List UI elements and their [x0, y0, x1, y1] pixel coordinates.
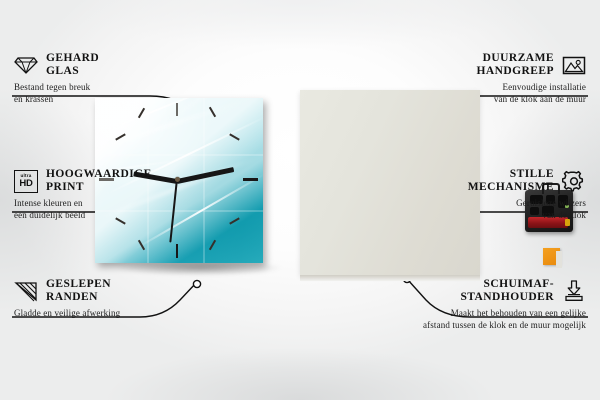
picture-frame-icon — [562, 54, 586, 76]
feature-geslepen-randen: GESLEPEN RANDEN Gladde en veilige afwerk… — [14, 278, 199, 320]
feature-duurzame-handgreep: DUURZAME HANDGREEP Eenvoudige installati… — [401, 52, 586, 105]
feature-subtitle-line1: Bestand tegen breuk — [14, 82, 199, 94]
beveled-edges-icon — [14, 280, 38, 302]
feature-subtitle-line1: Geruisloze wijzers — [401, 198, 586, 210]
feature-title-line1: DUURZAME — [476, 52, 554, 65]
feature-subtitle-line1: Eenvoudige installatie — [401, 82, 586, 94]
ultra-hd-icon-main: HD — [19, 179, 32, 189]
ultra-hd-icon: ultra HD — [14, 170, 38, 192]
feature-title-line1: GEHARD — [46, 52, 99, 65]
gear-icon — [562, 170, 586, 192]
feature-title-line2: HANDGREEP — [476, 65, 554, 78]
feature-subtitle-line2: en krassen — [14, 94, 199, 106]
feature-title-line2: STANDHOUDER — [460, 291, 554, 304]
foam-spacer-pad — [543, 248, 560, 265]
feature-title-line1: GESLEPEN — [46, 278, 111, 291]
feature-subtitle-line1: Maakt het behouden van een gelijke — [371, 308, 586, 320]
down-arrow-stack-icon — [562, 280, 586, 302]
feature-title-line2: GLAS — [46, 65, 99, 78]
feature-title-line1: HOOGWAARDIGE — [46, 168, 152, 181]
feature-schuimafstandhouder: SCHUIMAF- STANDHOUDER Maakt het behouden… — [371, 278, 586, 331]
feature-title-line2: PRINT — [46, 181, 152, 194]
feature-title-line2: RANDEN — [46, 291, 111, 304]
feature-title-line1: SCHUIMAF- — [460, 278, 554, 291]
feature-stille-mechanisme: STILLE MECHANISME Geruisloze wijzers van… — [401, 168, 586, 221]
feature-hoogwaardige-print: ultra HD HOOGWAARDIGE PRINT Intense kleu… — [14, 168, 199, 221]
feature-title-line2: MECHANISME — [468, 181, 554, 194]
feature-gehard-glas: GEHARD GLAS Bestand tegen breuk en krass… — [14, 52, 199, 105]
feature-subtitle-line2: afstand tussen de klok en de muur mogeli… — [371, 320, 586, 332]
feature-subtitle-line1: Intense kleuren en — [14, 198, 199, 210]
feature-subtitle-line2: een duidelijk beeld — [14, 210, 199, 222]
feature-subtitle-line2: van de klok — [401, 210, 586, 222]
diamond-icon — [14, 54, 38, 76]
feature-subtitle-line2: van de klok aan de muur — [401, 94, 586, 106]
feature-title-line1: STILLE — [468, 168, 554, 181]
product-feature-infographic: GEHARD GLAS Bestand tegen breuk en krass… — [0, 0, 600, 400]
feature-subtitle-line1: Gladde en veilige afwerking — [14, 308, 199, 320]
